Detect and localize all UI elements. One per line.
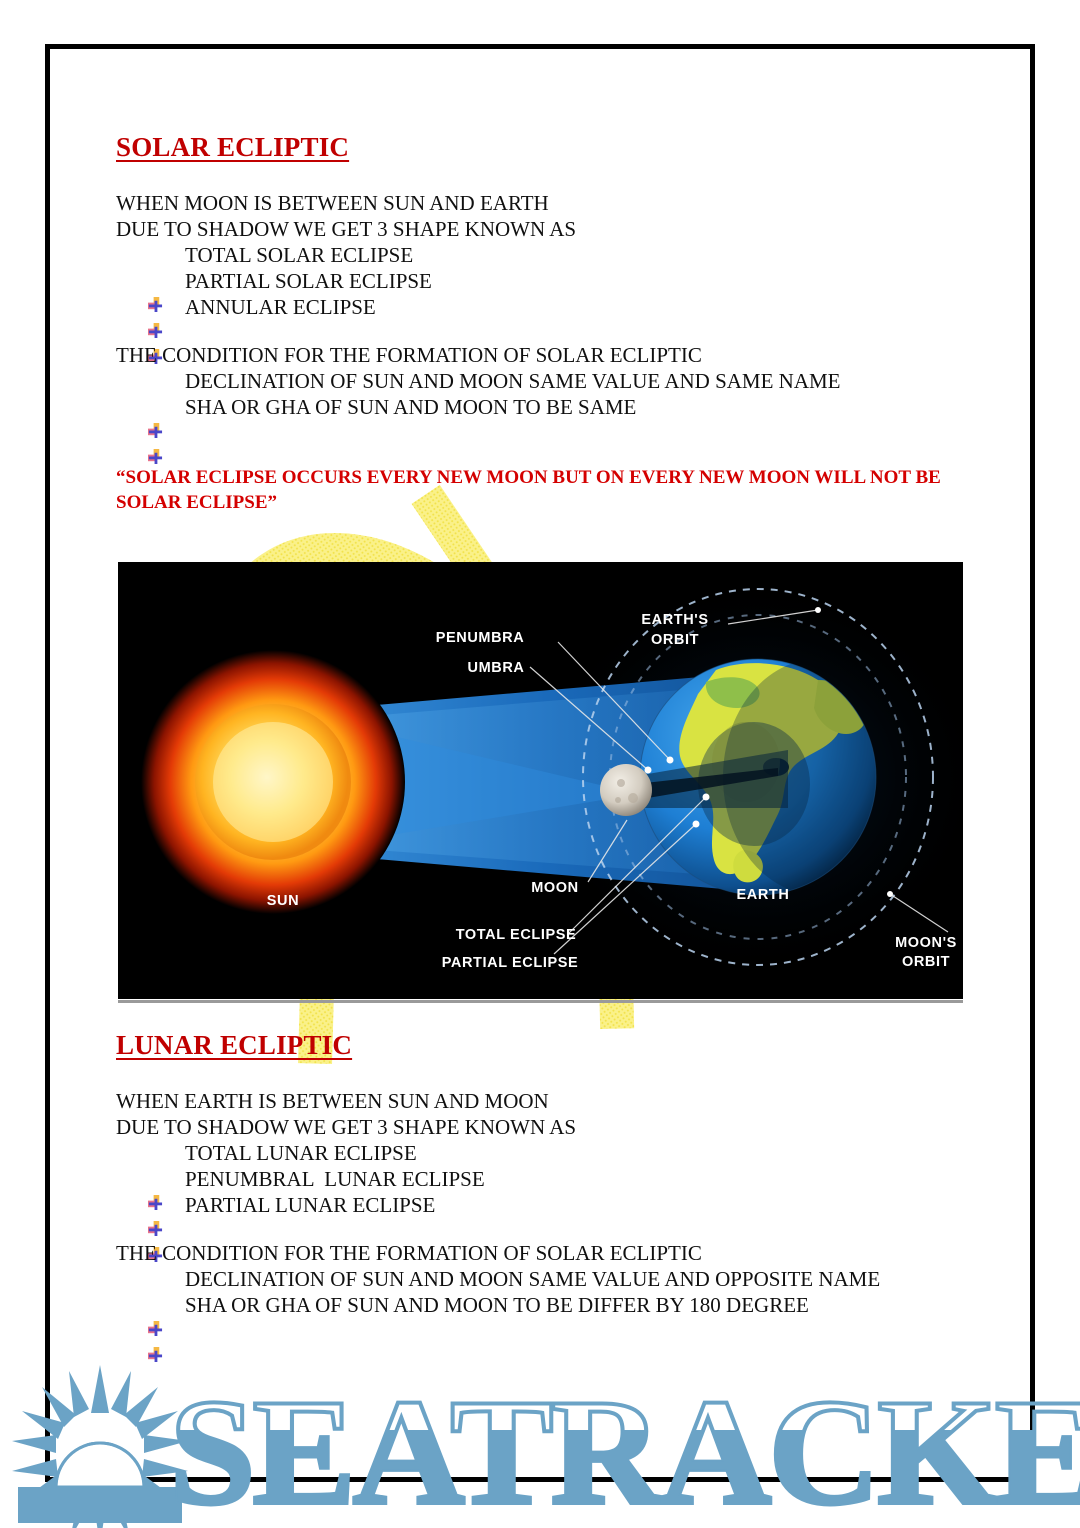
page-border: [45, 44, 1035, 1482]
